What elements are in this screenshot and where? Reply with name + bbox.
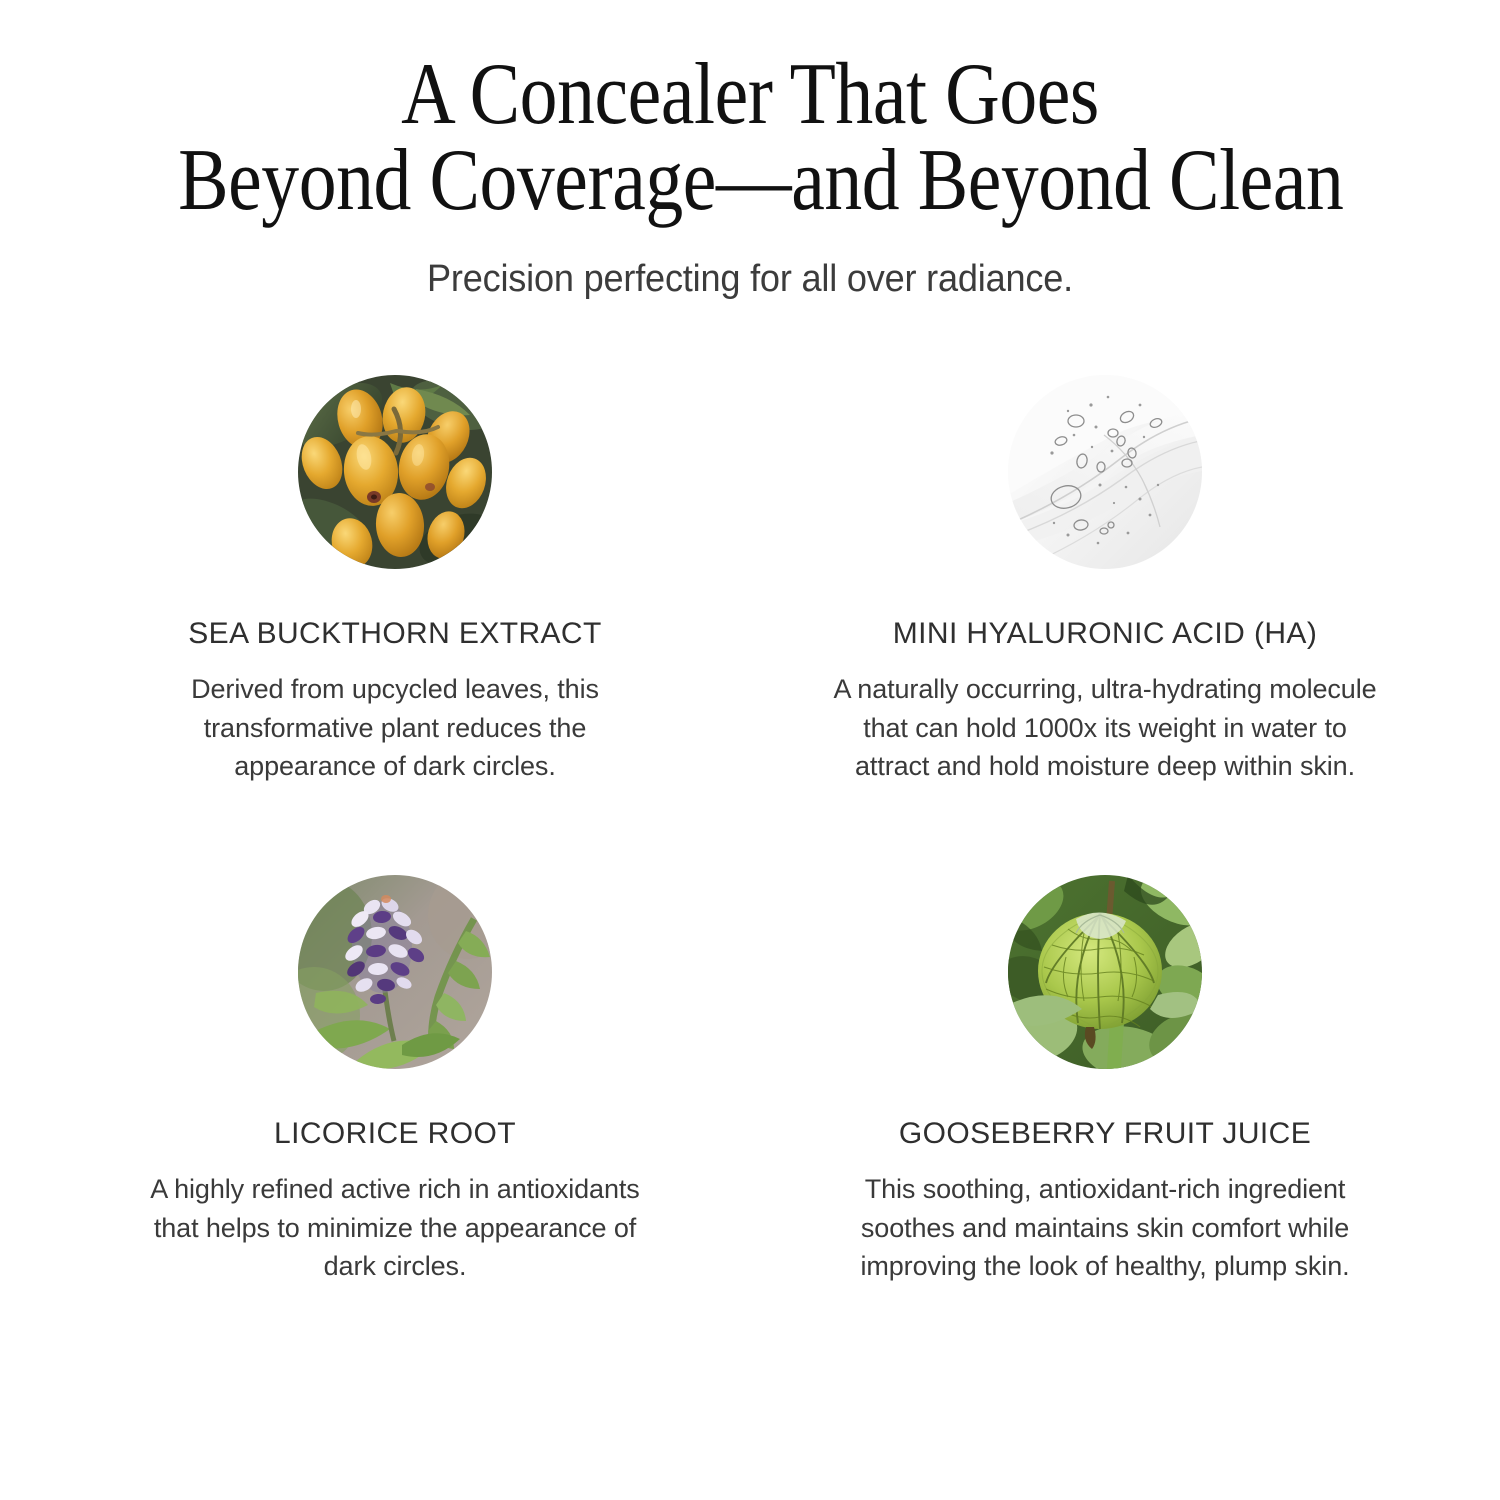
page-title-line-1: A Concealer That Goes: [178, 52, 1322, 138]
ingredient-infographic-page: A Concealer That Goes Beyond Coverage—an…: [0, 0, 1500, 1500]
gooseberry-image: [1008, 875, 1202, 1069]
page-title-line-2: Beyond Coverage—and Beyond Clean: [178, 138, 1322, 224]
ingredient-description: A naturally occurring, ultra-hydrating m…: [825, 670, 1385, 785]
ingredient-name: LICORICE ROOT: [274, 1117, 516, 1150]
ingredient-description: Derived from upcycled leaves, this trans…: [135, 670, 655, 785]
ingredient-description: A highly refined active rich in antioxid…: [135, 1170, 655, 1285]
licorice-root-image: [298, 875, 492, 1069]
ingredient-grid: SEA BUCKTHORN EXTRACT Derived from upcyc…: [40, 301, 1460, 1285]
ingredient-card-hyaluronic-acid: MINI HYALURONIC ACID (HA) A naturally oc…: [750, 375, 1460, 785]
hyaluronic-acid-image: [1008, 375, 1202, 569]
ingredient-description: This soothing, antioxidant-rich ingredie…: [825, 1170, 1385, 1285]
ingredient-card-licorice-root: LICORICE ROOT A highly refined active ri…: [40, 785, 750, 1285]
page-title: A Concealer That Goes Beyond Coverage—an…: [178, 52, 1322, 224]
sea-buckthorn-image: [298, 375, 492, 569]
page-subtitle: Precision perfecting for all over radian…: [38, 258, 1463, 301]
ingredient-name: SEA BUCKTHORN EXTRACT: [188, 617, 601, 650]
header: A Concealer That Goes Beyond Coverage—an…: [0, 0, 1500, 301]
ingredient-name: GOOSEBERRY FRUIT JUICE: [899, 1117, 1311, 1150]
ingredient-card-sea-buckthorn: SEA BUCKTHORN EXTRACT Derived from upcyc…: [40, 375, 750, 785]
ingredient-card-gooseberry: GOOSEBERRY FRUIT JUICE This soothing, an…: [750, 785, 1460, 1285]
ingredient-name: MINI HYALURONIC ACID (HA): [893, 617, 1317, 650]
